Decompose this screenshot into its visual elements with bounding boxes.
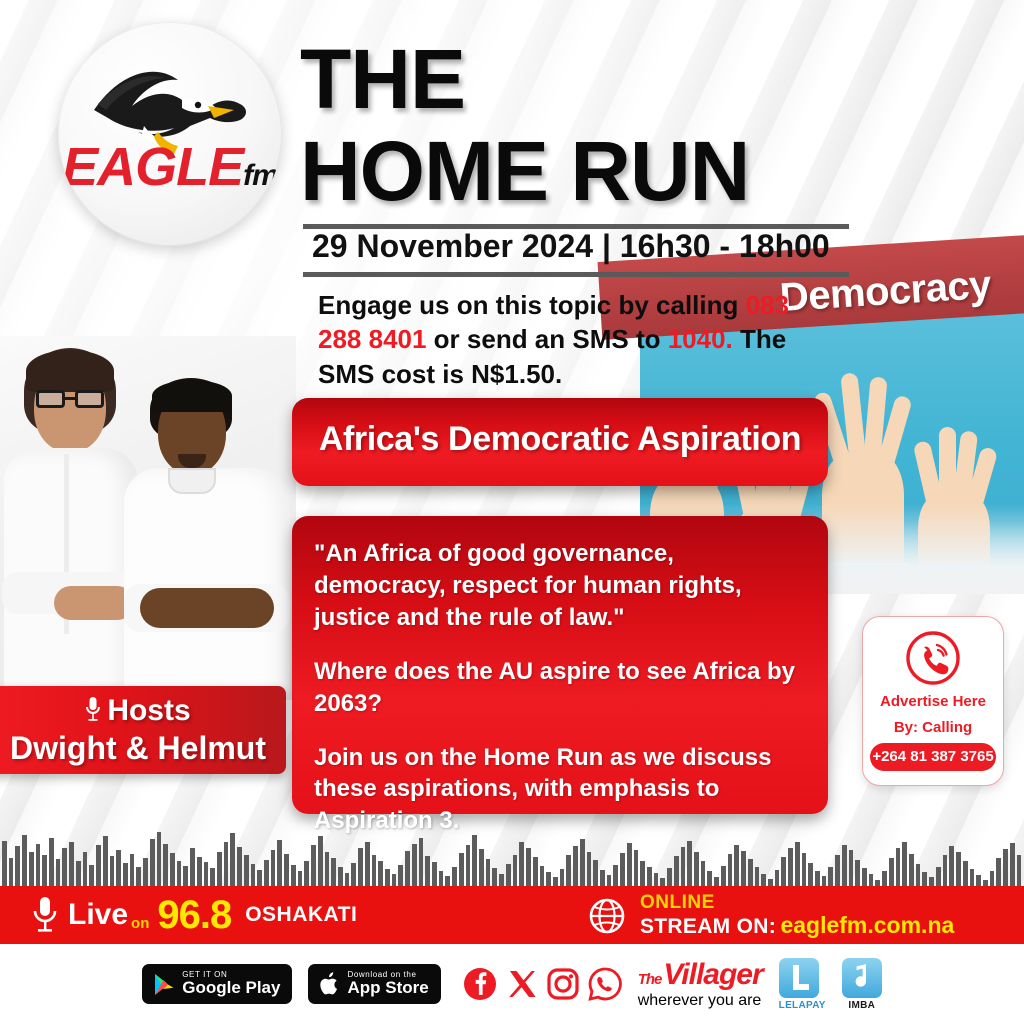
waveform-bar [96, 845, 101, 888]
whatsapp-icon[interactable] [588, 967, 622, 1001]
waveform-bar [674, 856, 679, 888]
waveform-bar [788, 848, 793, 888]
waveform-bar [425, 856, 430, 888]
waveform-bar [163, 844, 168, 888]
waveform-bar [237, 847, 242, 888]
waveform-bar [681, 847, 686, 888]
waveform-bar [452, 867, 457, 888]
waveform-bar [291, 865, 296, 888]
waveform-bar [1017, 855, 1022, 888]
waveform-bar [217, 852, 222, 888]
waveform-bar [412, 844, 417, 888]
apple-icon [320, 972, 340, 996]
logo-eagle-text: EAGLE [62, 137, 243, 197]
google-play-label: Google Play [182, 979, 280, 997]
waveform-bar [338, 867, 343, 888]
waveform-bar [277, 840, 282, 888]
eagle-fm-logo: EAGLEfm [58, 22, 282, 246]
advertise-heading: Advertise Here [863, 693, 1003, 710]
waveform-bar [1003, 849, 1008, 888]
waveform-bar [157, 832, 162, 888]
waveform-bar [76, 861, 81, 888]
waveform-bar [620, 853, 625, 888]
waveform-bar [889, 858, 894, 888]
eagle-bird-icon [58, 22, 282, 246]
broadcast-bar: Live on 96.8 OSHAKATI ONLINE STREAM ON: … [0, 886, 1024, 944]
villager-name-text: Villager [663, 958, 762, 992]
description-paragraph: Join us on the Home Run as we discuss th… [314, 742, 810, 838]
waveform-bar [513, 855, 518, 888]
waveform-bar [405, 851, 410, 888]
waveform-bar [506, 864, 511, 888]
hosts-photo [0, 336, 296, 700]
waveform-bar [802, 853, 807, 888]
waveform-bar [627, 843, 632, 888]
waveform-bar [519, 842, 524, 888]
music-note-icon [842, 958, 882, 998]
waveform-bar [996, 858, 1001, 888]
live-label: Live [68, 898, 128, 932]
waveform-bar [963, 861, 968, 888]
waveform-bar [466, 845, 471, 888]
engage-line-2: or send an SMS to [426, 324, 660, 354]
waveform-bar [486, 859, 491, 888]
waveform-bar [398, 865, 403, 888]
stream-on-label: STREAM ON: [640, 915, 776, 938]
engage-shortcode[interactable]: 1040. [668, 324, 733, 354]
waveform-bar [479, 849, 484, 888]
waveform-bar [566, 855, 571, 888]
description-paragraph: "An Africa of good governance, democracy… [314, 538, 810, 634]
waveform-bar [526, 848, 531, 888]
phone-ring-icon [904, 629, 962, 687]
lelapay-logo: LELAPAY [779, 958, 826, 1011]
waveform-bar [372, 855, 377, 888]
hosts-names: Dwight & Helmut [0, 730, 286, 767]
waveform-bar [580, 839, 585, 888]
waveform-bar [909, 854, 914, 888]
globe-icon [588, 897, 626, 935]
x-twitter-icon[interactable] [506, 968, 538, 1000]
waveform-bar [89, 865, 94, 888]
waveform-bar [1010, 843, 1015, 888]
waveform-bar [842, 845, 847, 888]
waveform-bar [687, 841, 692, 888]
waveform-bar [828, 867, 833, 888]
waveform-bar [304, 861, 309, 888]
waveform-bar [808, 863, 813, 888]
topic-title: Africa's Democratic Aspiration [292, 420, 828, 459]
waveform-bar [318, 836, 323, 888]
description-text: "An Africa of good governance, democracy… [314, 538, 810, 837]
facebook-icon[interactable] [463, 967, 497, 1001]
waveform-bar [284, 854, 289, 888]
waveform-bar [62, 848, 67, 888]
waveform-bar [533, 857, 538, 888]
waveform-bar [613, 865, 618, 888]
logo-fm-text: fm [243, 159, 278, 192]
waveform-bar [472, 835, 477, 888]
waveform-bar [170, 853, 175, 888]
waveform-bar [197, 857, 202, 888]
waveform-bar [49, 838, 54, 888]
engage-line-1: Engage us on this topic by calling [318, 290, 738, 320]
waveform-bar [795, 842, 800, 888]
waveform-bar [224, 842, 229, 888]
waveform-bar [855, 860, 860, 888]
frequency-value: 96.8 [157, 893, 231, 938]
stream-group: ONLINE STREAM ON: eaglefm.com.na [588, 892, 954, 939]
waveform-bar [42, 855, 47, 888]
waveform-bar [896, 848, 901, 888]
waveform-bar [956, 852, 961, 888]
waveform-bar [634, 850, 639, 888]
waveform-bar [230, 833, 235, 888]
engage-block: Engage us on this topic by calling 083 2… [318, 288, 838, 391]
logo-wordmark: EAGLEfm [58, 140, 282, 194]
datetime-rule-bottom [303, 272, 849, 277]
town-label: OSHAKATI [245, 903, 357, 927]
waveform-bar [728, 854, 733, 888]
waveform-bar [325, 852, 330, 888]
waveform-bar [721, 866, 726, 888]
waveform-bar [251, 864, 256, 888]
waveform-bar [647, 867, 652, 888]
hosts-label: Hosts [107, 694, 190, 727]
advertise-subheading: By: Calling [863, 719, 1003, 736]
waveform-bar [748, 859, 753, 888]
waveform-bar [593, 860, 598, 888]
waveform-bar [244, 855, 249, 888]
waveform-bar [183, 866, 188, 888]
waveform-bar [419, 838, 424, 888]
waveform-bar [432, 862, 437, 888]
imba-label: IMBA [842, 1000, 882, 1011]
waveform-bar [734, 845, 739, 888]
waveform-bar [116, 850, 121, 888]
waveform-bar [949, 846, 954, 888]
topic-banner: Africa's Democratic Aspiration [292, 398, 828, 486]
waveform-bar [640, 861, 645, 888]
waveform-bar [781, 857, 786, 888]
description-paragraph: Where does the AU aspire to see Africa b… [314, 656, 810, 720]
waveform-bar [130, 854, 135, 888]
waveform-bar [936, 867, 941, 888]
waveform-bar [835, 855, 840, 888]
waveform-bar [103, 836, 108, 888]
google-play-icon [154, 973, 175, 996]
waveform-bar [15, 846, 20, 888]
advertise-card[interactable]: Advertise Here By: Calling +264 81 387 3… [862, 616, 1004, 786]
lelapay-label: LELAPAY [779, 1000, 826, 1011]
waveform-bar [943, 855, 948, 888]
app-store-badge[interactable]: Download on the App Store [308, 964, 440, 1004]
waveform-bar [56, 859, 61, 888]
poster-canvas: Democracy EAGLEfm THE HOME RUN 29 Novemb… [0, 0, 1024, 1024]
online-label: ONLINE [640, 892, 954, 913]
waveform-bar [351, 863, 356, 888]
waveform-bar [849, 850, 854, 888]
imba-logo: IMBA [842, 958, 882, 1011]
live-on-label: on [131, 915, 149, 932]
waveform-bar [264, 860, 269, 888]
title-line-1: THE [300, 40, 1000, 120]
footer-bar: GET IT ON Google Play Download on the Ap… [0, 944, 1024, 1024]
waveform-bar [694, 852, 699, 888]
waveform-bar [110, 856, 115, 888]
instagram-icon[interactable] [547, 968, 579, 1000]
microphone-icon [85, 696, 101, 730]
waveform-bar [741, 851, 746, 888]
waveform-bar [378, 861, 383, 888]
waveform-bar [271, 850, 276, 888]
waveform-bar [916, 864, 921, 888]
microphone-icon [32, 895, 58, 935]
waveform-bar [2, 841, 7, 888]
description-panel: "An Africa of good governance, democracy… [292, 516, 828, 814]
show-datetime: 29 November 2024 | 16h30 - 18h00 [312, 228, 830, 265]
waveform-bar [331, 858, 336, 888]
villager-logo: TheVillager wherever you are [638, 958, 763, 1010]
social-links [463, 967, 622, 1001]
lelapay-l-icon [779, 958, 819, 998]
waveform-bar [136, 867, 141, 888]
hosts-label-row: Hosts [0, 694, 286, 730]
advertise-phone[interactable]: +264 81 387 3765 [870, 743, 996, 771]
waveform-bar [358, 848, 363, 888]
waveform-bar [587, 852, 592, 888]
waveform-bar [540, 866, 545, 888]
villager-the-text: The [638, 971, 662, 988]
waveform-bar [459, 853, 464, 888]
waveform-bar [69, 842, 74, 888]
waveform-bar [177, 861, 182, 888]
waveform-bar [143, 858, 148, 888]
title-line-2: HOME RUN [300, 132, 1000, 212]
waveform-bar [83, 852, 88, 888]
villager-tagline: wherever you are [638, 992, 762, 1009]
waveform-bar [123, 863, 128, 888]
google-play-badge[interactable]: GET IT ON Google Play [142, 964, 292, 1004]
waveform-bar [22, 835, 27, 888]
waveform-bar [755, 867, 760, 888]
waveform-bar [573, 846, 578, 888]
waveform-bar [150, 839, 155, 888]
waveform-bar [365, 842, 370, 888]
waveform-bar [36, 844, 41, 888]
waveform-bar [902, 842, 907, 888]
waveform-bar [701, 861, 706, 888]
live-frequency-group: Live on 96.8 OSHAKATI [32, 886, 357, 944]
waveform-bar [9, 858, 14, 888]
waveform-bar [204, 862, 209, 888]
hosts-banner: Hosts Dwight & Helmut [0, 686, 286, 774]
waveform-bar [311, 845, 316, 888]
stream-url[interactable]: eaglefm.com.na [780, 912, 954, 938]
show-title: THE HOME RUN [300, 40, 1000, 212]
waveform-bar [190, 848, 195, 888]
waveform-bar [29, 852, 34, 888]
app-store-label: App Store [347, 979, 428, 997]
